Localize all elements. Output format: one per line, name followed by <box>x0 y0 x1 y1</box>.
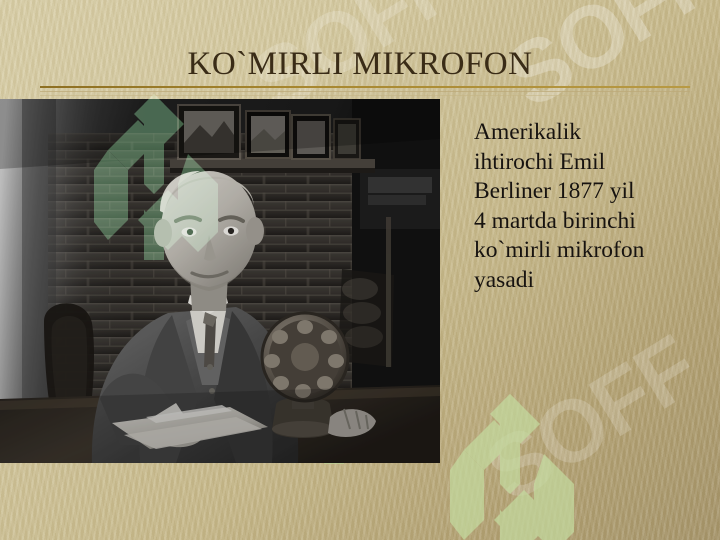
title-divider-secondary <box>40 91 690 92</box>
presentation-slide: SOFF SOFF SOFF <box>0 0 720 540</box>
slide-body-text: Amerikalik ihtirochi Emil Berliner 1877 … <box>474 118 702 295</box>
title-area: KO`MIRLI MIKROFON <box>0 44 720 84</box>
body-line: 4 martda birinchi <box>474 207 702 237</box>
body-line: yasadi <box>474 266 702 296</box>
body-line: Amerikalik <box>474 118 702 148</box>
body-line: ko`mirli mikrofon <box>474 236 702 266</box>
page-title: KO`MIRLI MIKROFON <box>0 44 720 84</box>
watermark-soff-chain-logo-right <box>448 392 578 540</box>
title-divider-gold <box>40 86 690 88</box>
title-divider-tertiary <box>40 95 690 96</box>
slide-photo-emil-berliner <box>0 99 440 463</box>
body-line: Berliner 1877 yil <box>474 177 702 207</box>
watermark-text-bottom-right: SOFF <box>468 316 714 523</box>
body-line: ihtirochi Emil <box>474 148 702 178</box>
